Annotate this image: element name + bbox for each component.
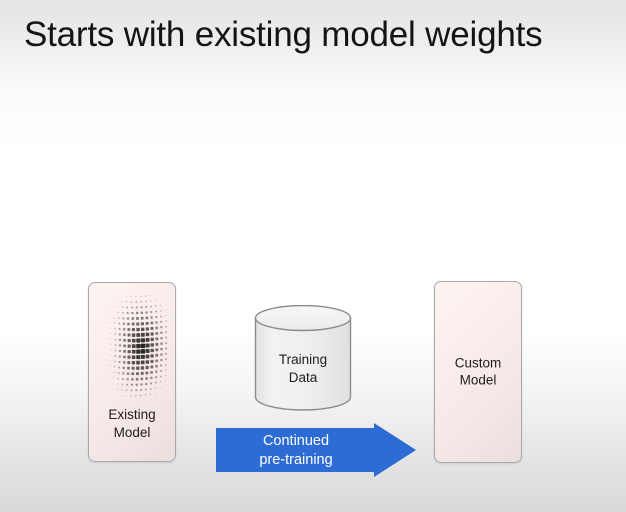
- existing-model-label: Existing Model: [89, 406, 175, 441]
- training-data-cylinder[interactable]: Training Data: [253, 305, 353, 415]
- existing-model-card[interactable]: Existing Model: [88, 282, 176, 462]
- custom-model-label: Custom Model: [435, 355, 521, 390]
- continued-pretraining-arrow[interactable]: Continued pre-training: [216, 423, 416, 477]
- training-data-label: Training Data: [253, 351, 353, 386]
- custom-model-card[interactable]: Custom Model: [434, 281, 522, 463]
- arrow-label: Continued pre-training: [216, 432, 376, 470]
- slide-canvas: Starts with existing model weights Exist…: [0, 0, 626, 512]
- halftone-mesh-icon: [91, 291, 175, 401]
- slide-title: Starts with existing model weights: [24, 14, 604, 56]
